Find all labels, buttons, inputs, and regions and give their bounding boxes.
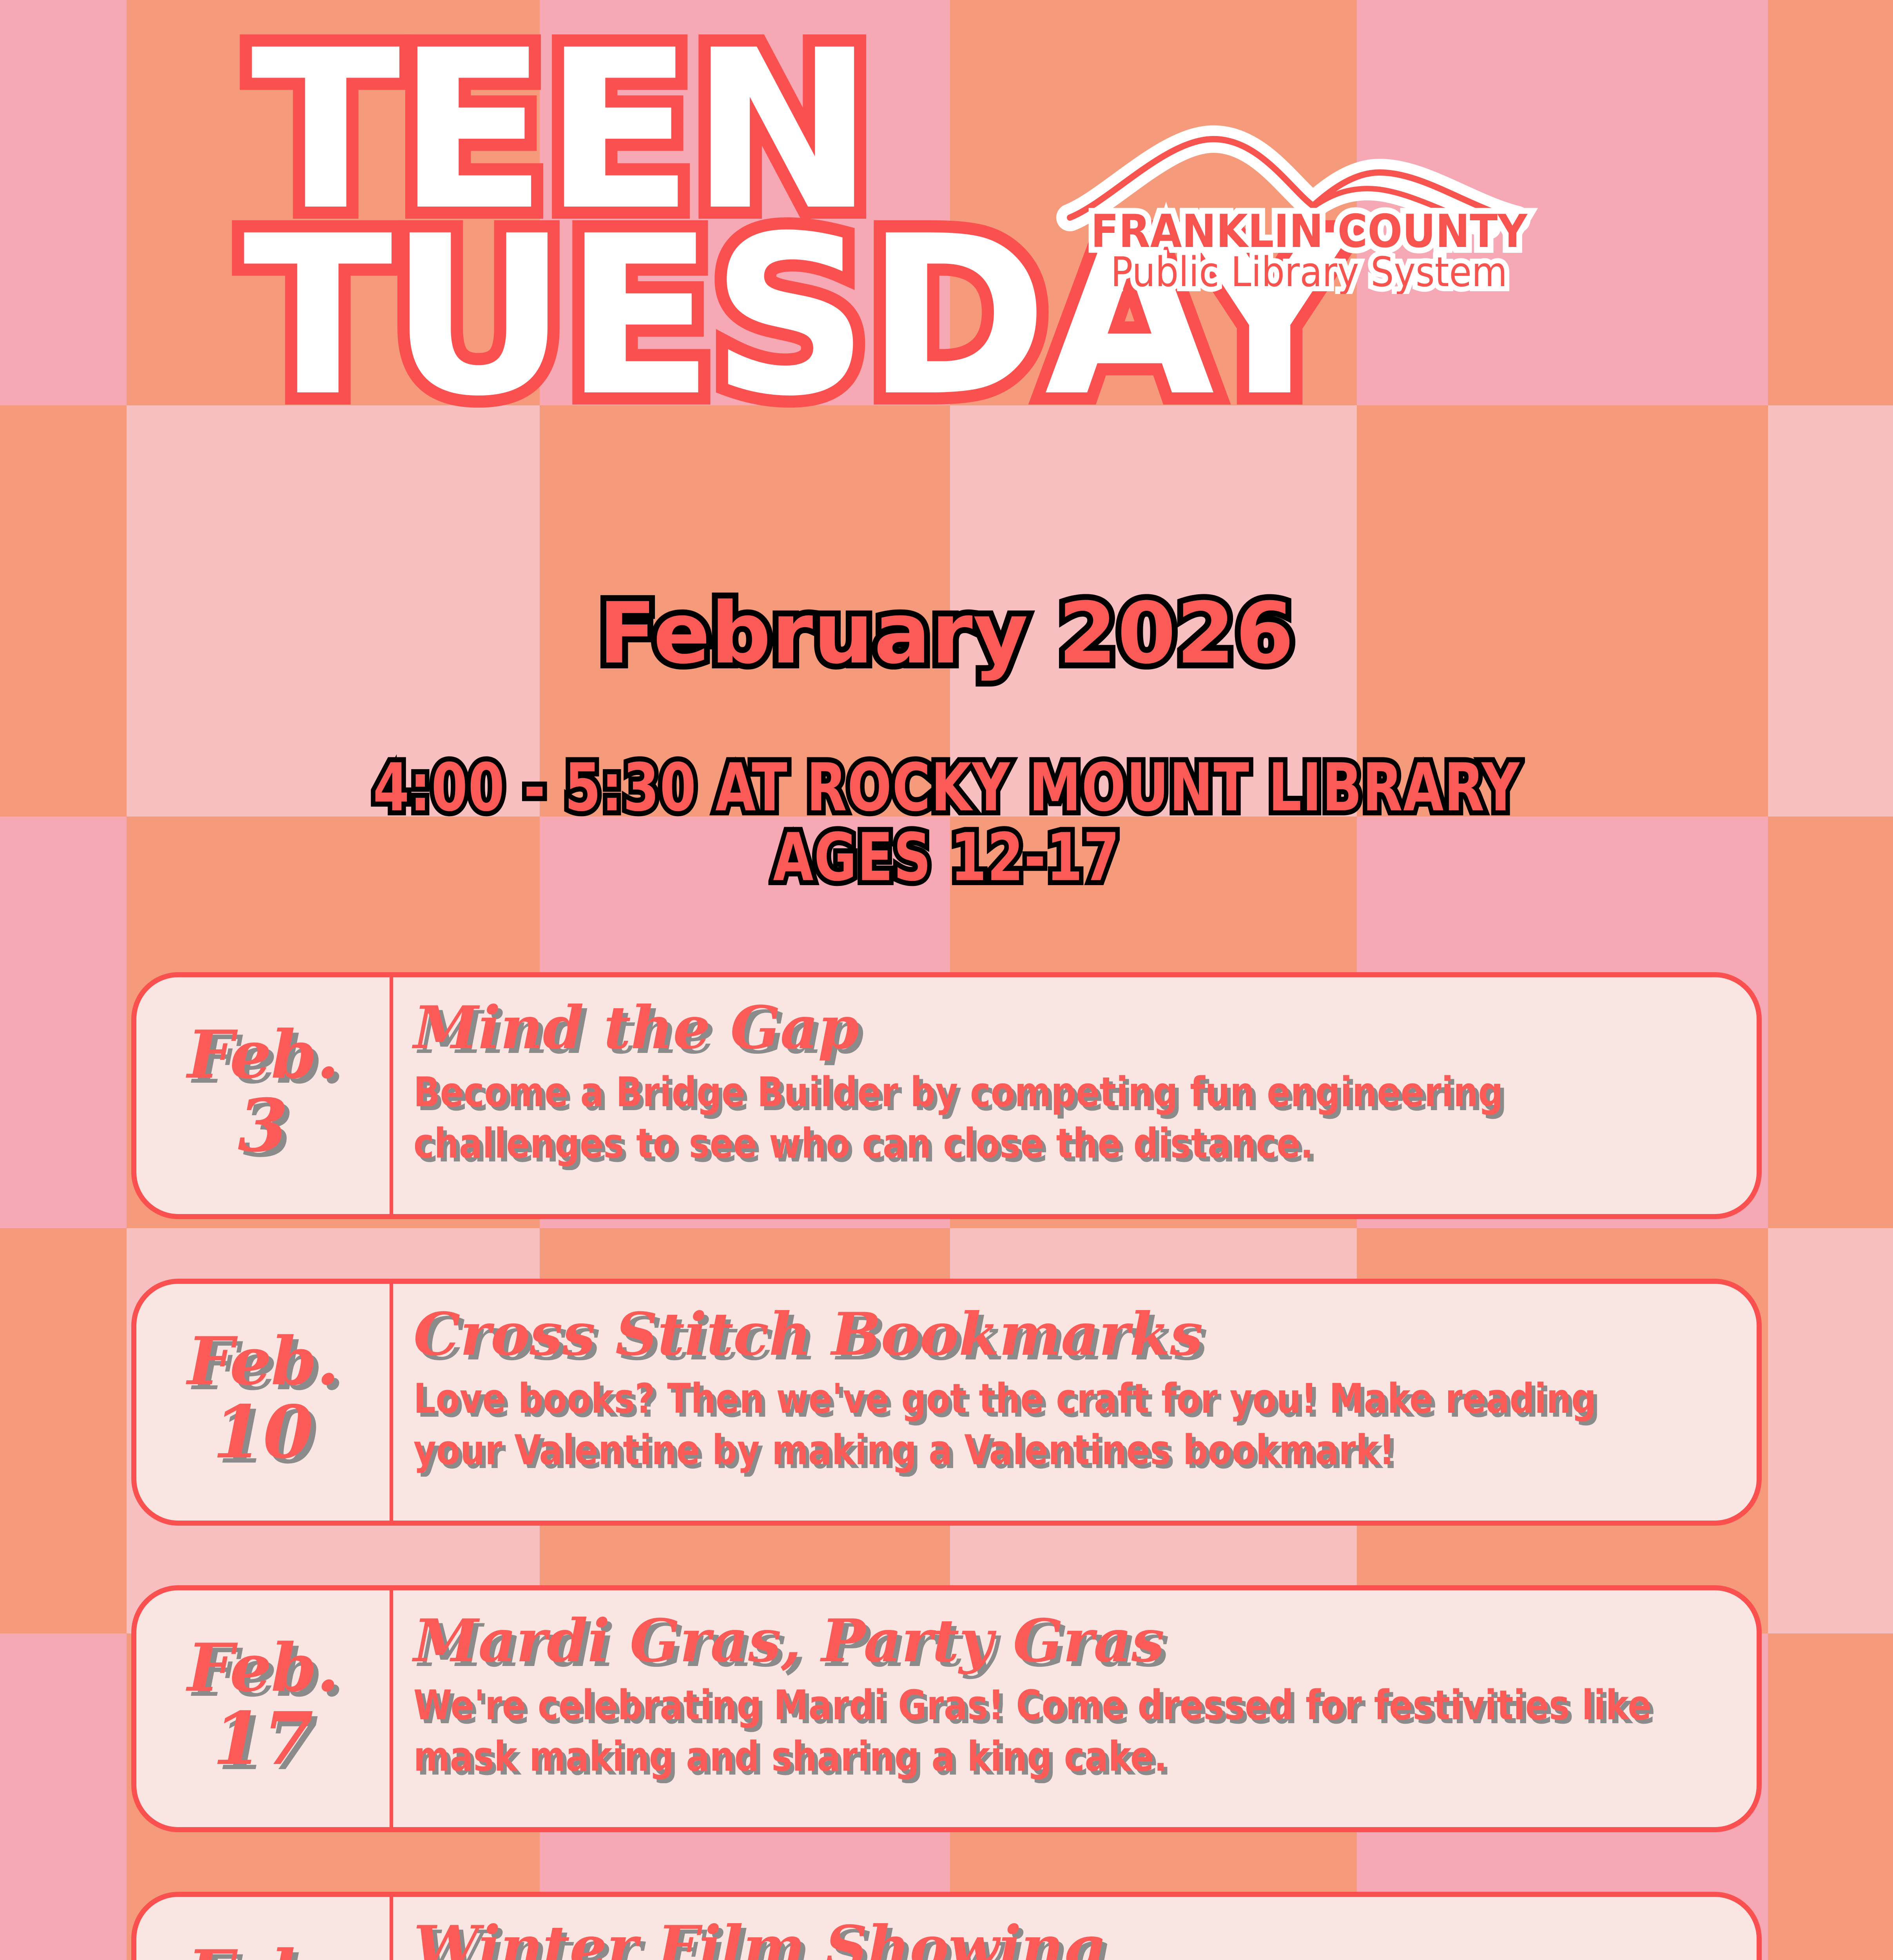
event-info: Mind the Gap Become a Bridge Builder by … [393, 977, 1757, 1214]
event-month: Feb. [187, 1022, 339, 1087]
event-date: Feb. 10 [136, 1284, 393, 1521]
event-title: Cross Stitch Bookmarks [413, 1305, 1729, 1364]
event-day: 17 [212, 1702, 313, 1775]
event-meta: 4:00 - 5:30 AT ROCKY MOUNT LIBRARY AGES … [0, 753, 1893, 892]
event-date: Feb. 3 [136, 977, 393, 1214]
month-heading: February 2026 [0, 584, 1893, 682]
event-month: Feb. [187, 1329, 339, 1394]
event-description: We're celebrating Mardi Gras! Come dress… [413, 1680, 1663, 1782]
event-month: Feb. [187, 1635, 339, 1700]
time-location-line: 4:00 - 5:30 AT ROCKY MOUNT LIBRARY [114, 753, 1779, 822]
ages-line: AGES 12-17 [114, 822, 1779, 892]
event-day: 10 [212, 1396, 313, 1468]
event-info: Cross Stitch Bookmarks Love books? Then … [393, 1284, 1757, 1521]
event-date: Feb. 24 [136, 1897, 393, 1960]
event-date: Feb. 17 [136, 1590, 393, 1827]
event-title: Winter Film Showing [413, 1918, 1729, 1960]
event-info: Winter Film Showing Join us for a showin… [393, 1897, 1757, 1960]
event-description: Become a Bridge Builder by competing fun… [413, 1067, 1663, 1169]
event-list: Feb. 3 Mind the Gap Become a Bridge Buil… [131, 972, 1762, 1960]
event-description: Love books? Then we've got the craft for… [413, 1373, 1663, 1476]
poster: TEEN TUESDAY FRANKLIN COUNTY Public Libr… [0, 0, 1893, 1960]
event-month: Feb. [187, 1942, 339, 1960]
logo-name-bottom: Public Library System [1111, 248, 1507, 294]
event-card[interactable]: Feb. 17 Mardi Gras, Party Gras We're cel… [131, 1585, 1762, 1832]
event-card[interactable]: Feb. 3 Mind the Gap Become a Bridge Buil… [131, 972, 1762, 1219]
event-card[interactable]: Feb. 24 Winter Film Showing Join us for … [131, 1892, 1762, 1960]
event-day: 3 [238, 1089, 288, 1162]
event-title: Mardi Gras, Party Gras [413, 1612, 1729, 1670]
event-title: Mind the Gap [413, 998, 1729, 1057]
event-card[interactable]: Feb. 10 Cross Stitch Bookmarks Love book… [131, 1279, 1762, 1526]
library-logo: FRANKLIN COUNTY Public Library System [1054, 118, 1564, 294]
event-info: Mardi Gras, Party Gras We're celebrating… [393, 1590, 1757, 1827]
